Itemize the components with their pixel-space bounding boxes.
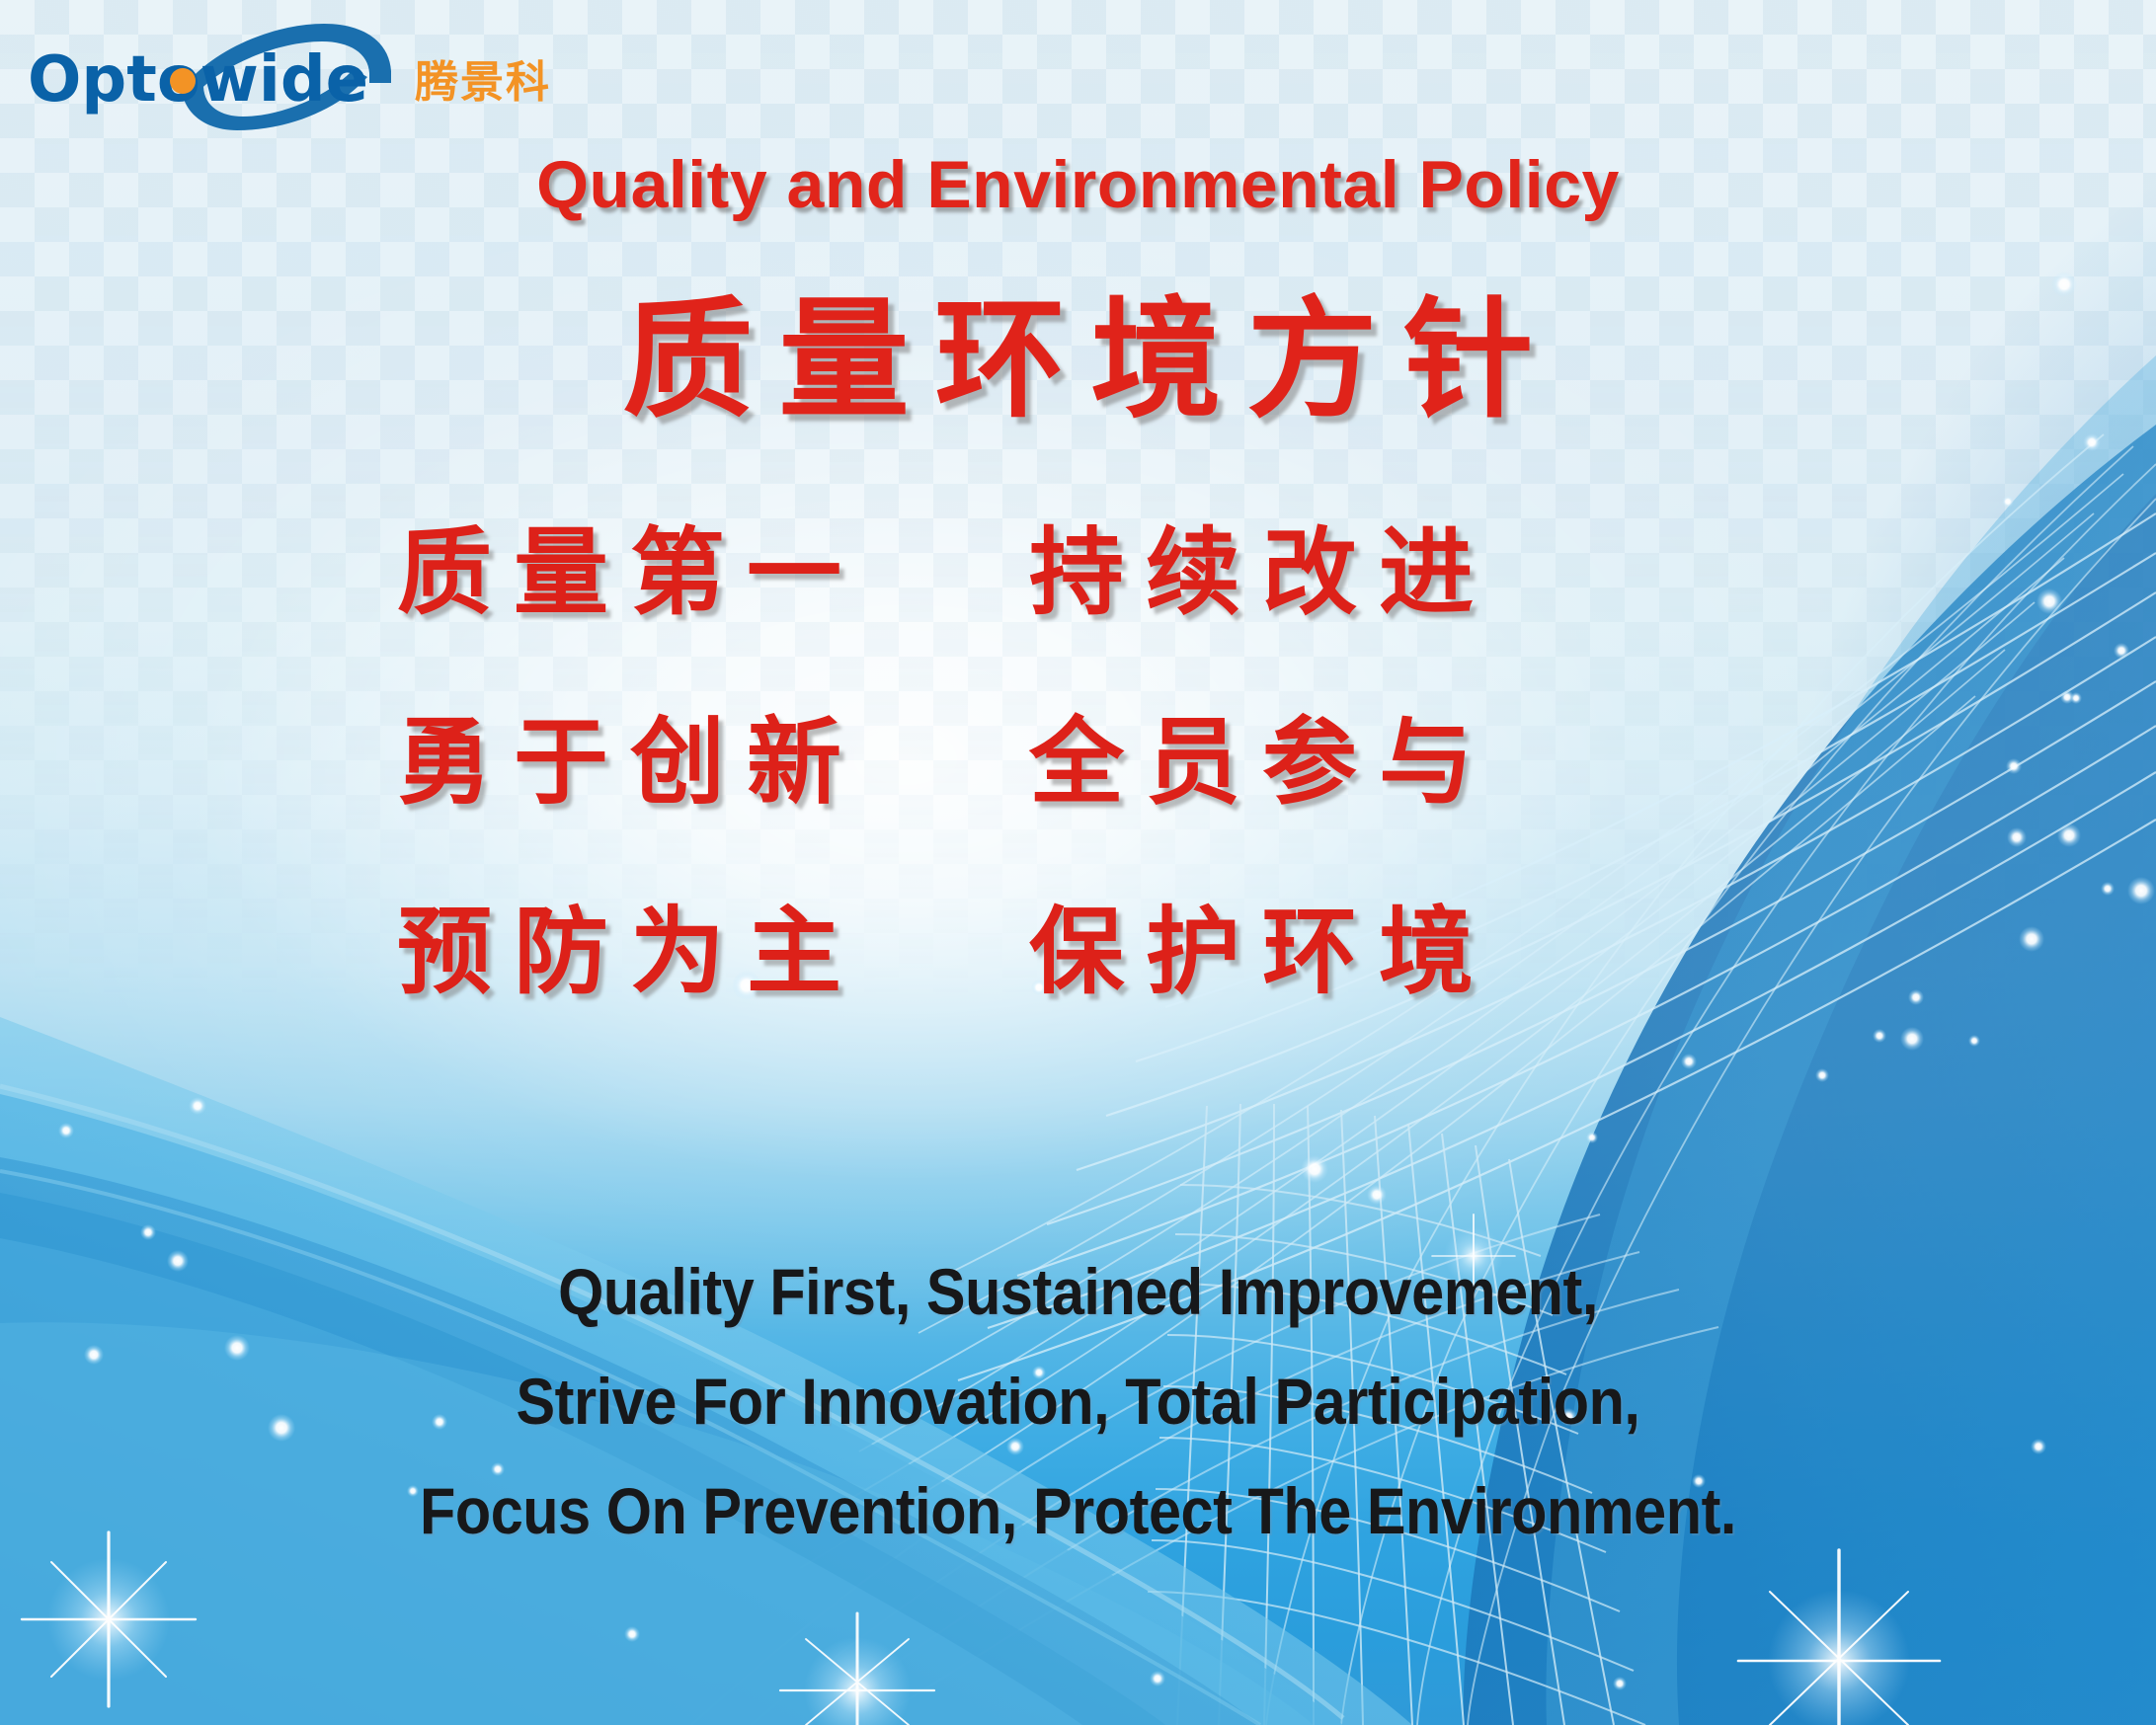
slogan-focus-prevention: 预防为主 [375,904,1007,999]
slogan-row: 质量第一 持续改进 [375,525,1817,715]
slogan-row: 勇于创新 全员参与 [375,715,1817,904]
page-title-chinese: 质量环境方针 [0,255,2156,443]
policy-statement-english: Quality First, Sustained Improvement, St… [0,1237,2156,1566]
slogan-strive-innovation: 勇于创新 [375,715,1007,810]
slogan-row: 预防为主 保护环境 [375,904,1817,1094]
logo-chinese-name: 腾景科技 [415,57,551,108]
quality-environmental-policy-poster: Optowide 腾景科技 Quality and Environmental … [0,0,2156,1725]
slogan-total-participation: 全员参与 [1007,715,1639,810]
optowide-logo: Optowide 腾景科技 [28,20,551,138]
slogan-quality-first: 质量第一 [375,525,1007,620]
policy-line: Focus On Prevention, Protect The Environ… [108,1456,2048,1566]
logo-wordmark: Optowide [28,43,368,117]
slogan-grid: 质量第一 持续改进 勇于创新 全员参与 预防为主 保护环境 [375,525,1817,1094]
policy-line: Strive For Innovation, Total Participati… [108,1347,2048,1456]
slogan-protect-environment: 保护环境 [1007,904,1639,999]
policy-line: Quality First, Sustained Improvement, [108,1237,2048,1347]
logo-accent-dot [170,68,196,94]
slogan-sustained-improvement: 持续改进 [1007,525,1639,620]
page-title-english: Quality and Environmental Policy [0,146,2156,223]
